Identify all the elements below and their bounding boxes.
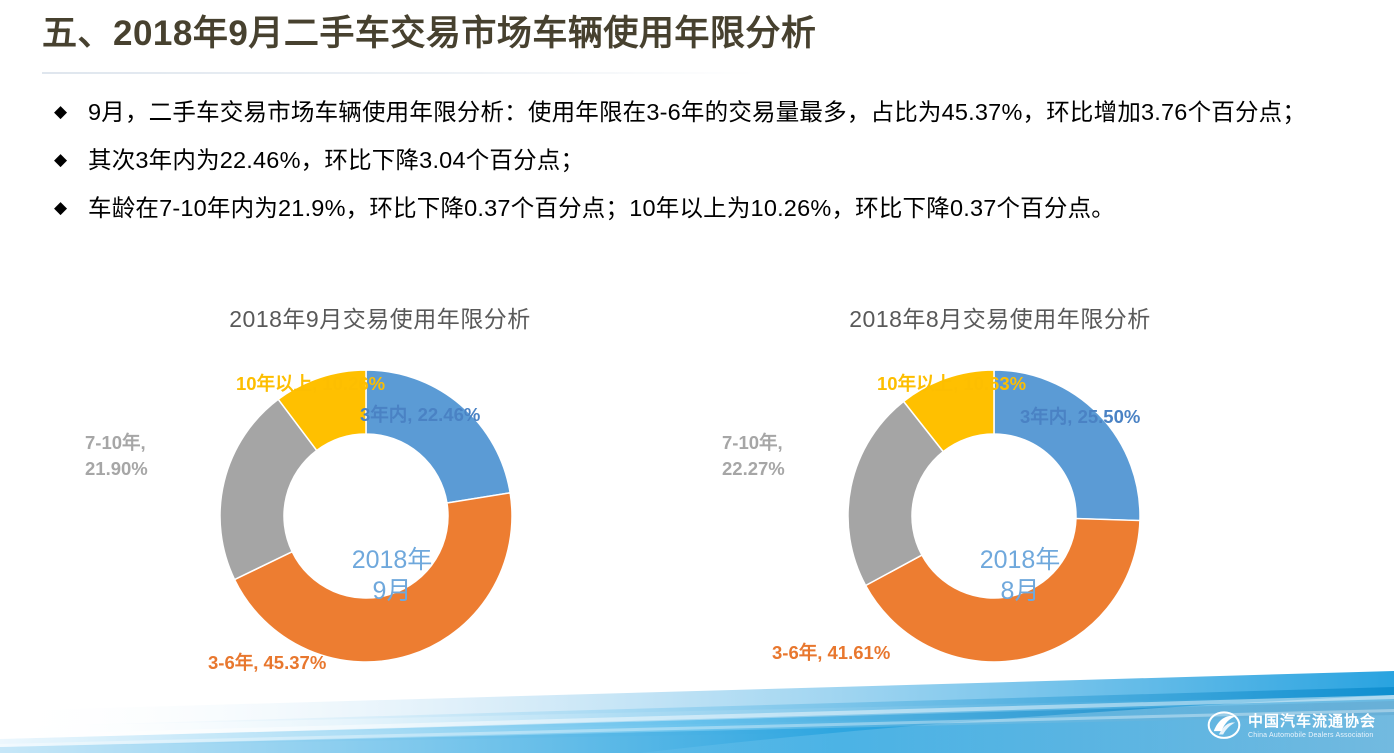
chart-title: 2018年9月交易使用年限分析 bbox=[60, 300, 700, 334]
bullet-text: 其次3年内为22.46%，环比下降3.04个百分点； bbox=[88, 141, 1356, 179]
bullet-list: ◆ 9月，二手车交易市场车辆使用年限分析：使用年限在3-6年的交易量最多，占比为… bbox=[46, 93, 1356, 237]
donut-chart-august bbox=[828, 350, 1160, 682]
cada-emblem-icon bbox=[1207, 709, 1241, 743]
data-label-within-3-years: 3年内, 22.46% bbox=[360, 402, 480, 428]
slide: 五、2018年9月二手车交易市场车辆使用年限分析 ◆ 9月，二手车交易市场车辆使… bbox=[0, 0, 1394, 753]
bullet-diamond-icon: ◆ bbox=[46, 141, 88, 179]
data-label-3-6-years: 3-6年, 41.61% bbox=[772, 640, 890, 666]
bullet-text: 9月，二手车交易市场车辆使用年限分析：使用年限在3-6年的交易量最多，占比为45… bbox=[88, 93, 1356, 131]
data-label-7-10-years: 7-10年, 22.27% bbox=[722, 430, 832, 482]
data-label-7-10-years: 7-10年, 21.90% bbox=[85, 430, 195, 482]
chart-title: 2018年8月交易使用年限分析 bbox=[680, 300, 1320, 334]
bullet-text: 车龄在7-10年内为21.9%，环比下降0.37个百分点；10年以上为10.26… bbox=[88, 189, 1356, 227]
donut-chart-september bbox=[200, 350, 532, 682]
donut-slice bbox=[366, 370, 510, 503]
chart-august: 2018年8月交易使用年限分析 2018年 8月 10年以上, 10.63% 3… bbox=[680, 292, 1320, 692]
donut-area: 2018年 9月 bbox=[60, 350, 700, 680]
page-title-wrap: 五、2018年9月二手车交易市场车辆使用年限分析 bbox=[42, 12, 1342, 56]
chart-september: 2018年9月交易使用年限分析 2018年 9月 10年以上, 10.26% 3… bbox=[60, 292, 700, 692]
logo-text: 中国汽车流通协会 China Automobile Dealers Associ… bbox=[1248, 714, 1376, 739]
footer-ribbon: 中国汽车流通协会 China Automobile Dealers Associ… bbox=[0, 665, 1394, 753]
data-label-within-3-years: 3年内, 25.50% bbox=[1020, 404, 1140, 430]
bullet-item: ◆ 其次3年内为22.46%，环比下降3.04个百分点； bbox=[46, 141, 1356, 179]
bullet-item: ◆ 9月，二手车交易市场车辆使用年限分析：使用年限在3-6年的交易量最多，占比为… bbox=[46, 93, 1356, 131]
charts-region: 2018年9月交易使用年限分析 2018年 9月 10年以上, 10.26% 3… bbox=[0, 292, 1394, 692]
title-divider bbox=[42, 72, 758, 74]
bullet-diamond-icon: ◆ bbox=[46, 93, 88, 131]
logo-name-en: China Automobile Dealers Association bbox=[1248, 732, 1376, 739]
data-label-over-10-years: 10年以上, 10.63% bbox=[877, 371, 1026, 397]
bullet-diamond-icon: ◆ bbox=[46, 189, 88, 227]
donut-area: 2018年 8月 bbox=[680, 350, 1320, 680]
data-label-over-10-years: 10年以上, 10.26% bbox=[236, 371, 385, 397]
ribbon-graphic bbox=[0, 665, 1394, 753]
bullet-item: ◆ 车龄在7-10年内为21.9%，环比下降0.37个百分点；10年以上为10.… bbox=[46, 189, 1356, 227]
logo-name-cn: 中国汽车流通协会 bbox=[1248, 714, 1376, 729]
page-title: 五、2018年9月二手车交易市场车辆使用年限分析 bbox=[42, 12, 1342, 56]
organization-logo: 中国汽车流通协会 China Automobile Dealers Associ… bbox=[1207, 709, 1376, 743]
